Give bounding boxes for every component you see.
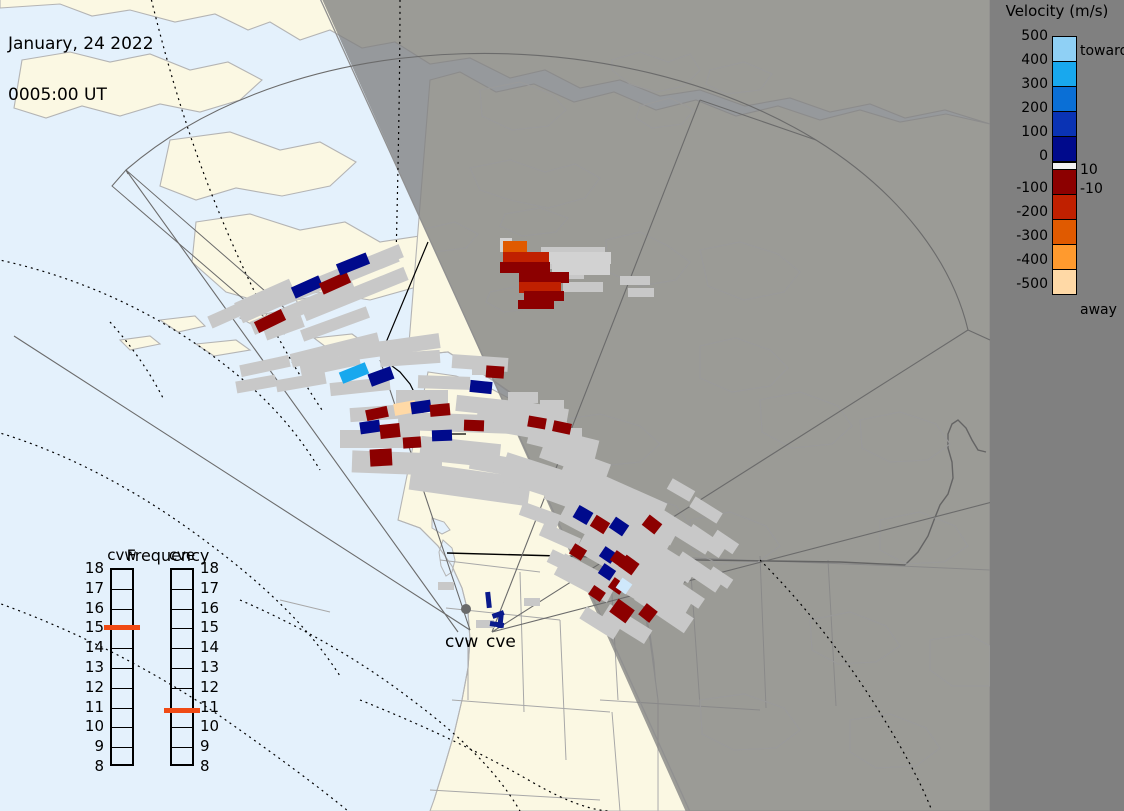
site-beam-glyphs	[485, 592, 504, 629]
frequency-marker-cve	[164, 708, 200, 713]
frequency-tick-cvw-13: 13	[80, 660, 104, 675]
colorbar-tick-100: 100	[996, 125, 1048, 139]
frequency-tick-cvw-17: 17	[80, 581, 104, 596]
colorbar-tick-0: 0	[996, 149, 1048, 163]
frequency-tick-cve-13: 13	[200, 660, 224, 675]
colorbar-tick-200: 200	[996, 101, 1048, 115]
colorbar-upper-gap-label: 10	[1080, 163, 1098, 177]
frequency-tick-cve-14: 14	[200, 640, 224, 655]
frequency-segment	[112, 728, 132, 748]
colorbar-tick-500: 500	[996, 29, 1048, 43]
frequency-segment	[172, 570, 192, 590]
frequency-tick-cvw-11: 11	[80, 700, 104, 715]
frequency-segment	[172, 590, 192, 610]
frequency-tick-cvw-15: 15	[80, 620, 104, 635]
colorbar-cell-away-4	[1053, 270, 1076, 294]
frequency-tick-cvw-12: 12	[80, 680, 104, 695]
superdarn-velocity-map: January, 24 2022 0005:00 UT cvw cve Freq…	[0, 0, 1124, 811]
timestamp: January, 24 2022 0005:00 UT	[8, 2, 154, 138]
frequency-segment	[112, 748, 132, 768]
frequency-segment	[112, 689, 132, 709]
colorbar-cell-toward-4	[1053, 137, 1076, 162]
colorbar-away-label: away	[1080, 303, 1117, 317]
frequency-scale-cve	[170, 568, 194, 766]
frequency-segment	[112, 669, 132, 689]
colorbar-cell-toward-0	[1053, 37, 1076, 62]
colorbar-cell-away-0	[1053, 170, 1076, 195]
frequency-tick-cvw-8: 8	[80, 759, 104, 774]
frequency-column-label-cvw: cvw	[102, 546, 142, 564]
colorbar-cell-away-3	[1053, 245, 1076, 270]
frequency-segment	[172, 748, 192, 768]
velocity-colorbar-panel: Velocity (m/s) toward 10 -10 away 500400…	[990, 0, 1124, 811]
frequency-tick-cve-8: 8	[200, 759, 224, 774]
colorbar-tick-neg100: -100	[996, 181, 1048, 195]
frequency-tick-cve-15: 15	[200, 620, 224, 635]
frequency-segment	[112, 570, 132, 590]
frequency-tick-cve-17: 17	[200, 581, 224, 596]
frequency-segment	[112, 709, 132, 729]
colorbar-cell-away-2	[1053, 220, 1076, 245]
radar-site-dot	[461, 604, 471, 614]
colorbar-toward-label: toward	[1080, 44, 1124, 58]
frequency-tick-cve-11: 11	[200, 700, 224, 715]
frequency-tick-cve-9: 9	[200, 739, 224, 754]
colorbar-tick-neg300: -300	[996, 229, 1048, 243]
frequency-scale-cvw	[110, 568, 134, 766]
frequency-tick-cve-18: 18	[200, 561, 224, 576]
frequency-tick-cve-10: 10	[200, 719, 224, 734]
colorbar-cell-toward-1	[1053, 62, 1076, 87]
colorbar-tick-300: 300	[996, 77, 1048, 91]
frequency-segment	[172, 669, 192, 689]
frequency-column-label-cve: cve	[162, 546, 202, 564]
frequency-tick-cvw-10: 10	[80, 719, 104, 734]
colorbar-zero-gap	[1053, 162, 1076, 170]
colorbar-tick-400: 400	[996, 53, 1048, 67]
frequency-segment	[112, 590, 132, 610]
frequency-tick-cvw-16: 16	[80, 601, 104, 616]
frequency-segment	[172, 629, 192, 649]
colorbar-tick-neg500: -500	[996, 277, 1048, 291]
frequency-tick-cvw-9: 9	[80, 739, 104, 754]
frequency-segment	[112, 649, 132, 669]
frequency-tick-cvw-14: 14	[80, 640, 104, 655]
frequency-marker-cvw	[104, 625, 140, 630]
frequency-panel: Frequency cvw18171615141312111098cve1817…	[88, 546, 248, 796]
colorbar-tick-neg200: -200	[996, 205, 1048, 219]
frequency-segment	[172, 689, 192, 709]
site-label-cvw: cvw	[445, 632, 478, 652]
frequency-segment	[112, 629, 132, 649]
frequency-segment	[172, 649, 192, 669]
colorbar-cell-away-1	[1053, 195, 1076, 220]
timestamp-time: 0005:00 UT	[8, 87, 154, 104]
site-label-cve: cve	[486, 632, 516, 652]
frequency-tick-cve-16: 16	[200, 601, 224, 616]
frequency-segment	[172, 728, 192, 748]
colorbar-tick-neg400: -400	[996, 253, 1048, 267]
frequency-segment	[172, 610, 192, 630]
map-canvas[interactable]: January, 24 2022 0005:00 UT cvw cve Freq…	[0, 0, 990, 811]
timestamp-date: January, 24 2022	[8, 36, 154, 53]
frequency-tick-cvw-18: 18	[80, 561, 104, 576]
frequency-tick-cve-12: 12	[200, 680, 224, 695]
colorbar-gradient	[1052, 36, 1077, 295]
colorbar-cell-toward-2	[1053, 87, 1076, 112]
colorbar-lower-gap-label: -10	[1080, 182, 1103, 196]
colorbar-cell-toward-3	[1053, 112, 1076, 137]
colorbar-title: Velocity (m/s)	[987, 2, 1124, 20]
